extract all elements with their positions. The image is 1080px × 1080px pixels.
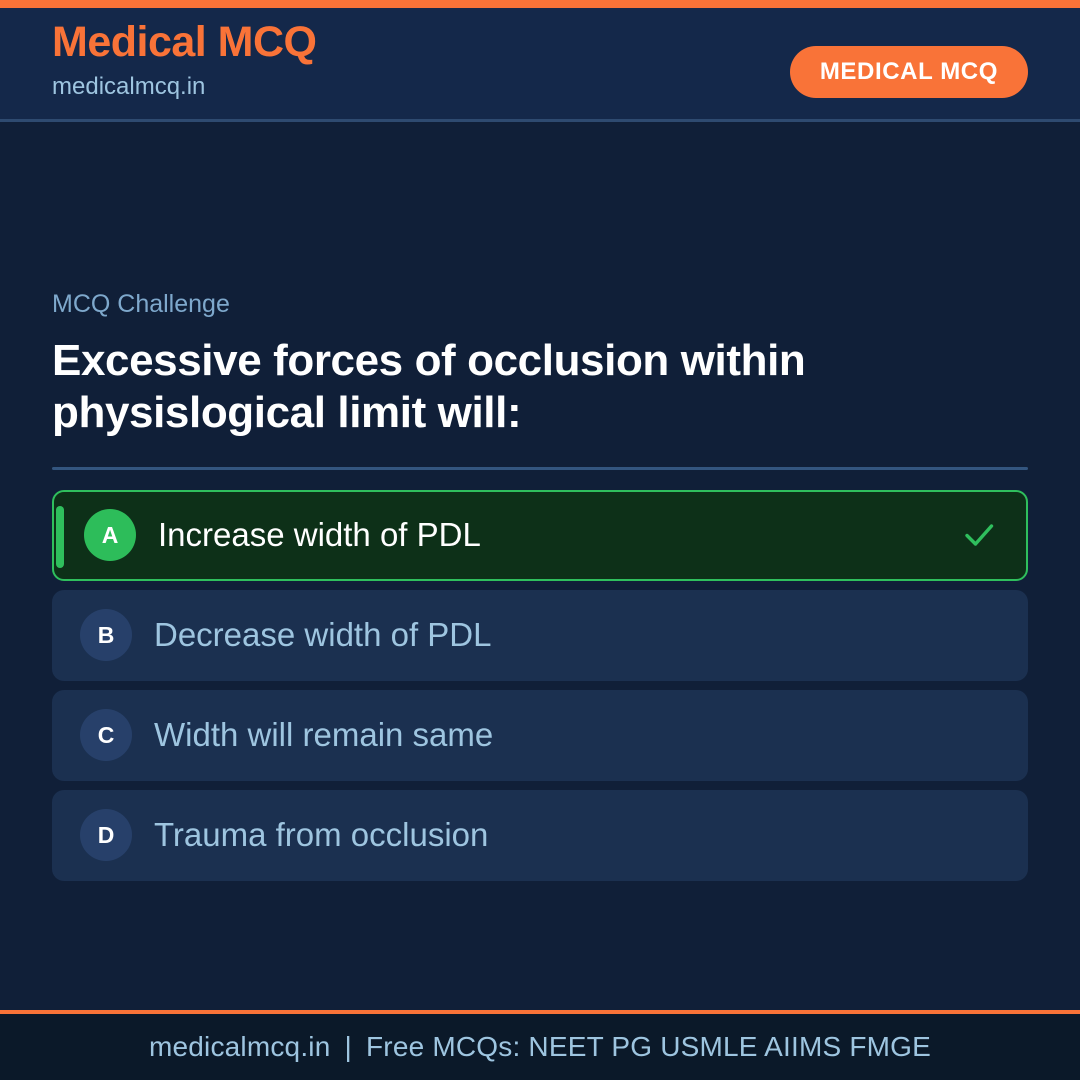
question-text: Excessive forces of occlusion within phy…: [52, 335, 952, 439]
option-d-letter-badge: D: [80, 809, 132, 861]
correct-accent-bar: [56, 506, 64, 568]
divider-rule: [52, 467, 1028, 470]
option-a-letter-badge: A: [84, 509, 136, 561]
option-c-letter-badge: C: [80, 709, 132, 761]
footer-site: medicalmcq.in: [149, 1031, 331, 1062]
eyebrow-label: MCQ Challenge: [52, 292, 1028, 317]
option-a-text: Increase width of PDL: [158, 517, 960, 553]
header-badge: MEDICAL MCQ: [790, 46, 1028, 98]
option-b-text: Decrease width of PDL: [154, 617, 1000, 653]
check-icon: [960, 516, 998, 554]
option-b-letter-badge: B: [80, 609, 132, 661]
option-c[interactable]: C Width will remain same: [52, 690, 1028, 781]
option-a[interactable]: A Increase width of PDL: [52, 490, 1028, 581]
option-d-text: Trauma from occlusion: [154, 817, 1000, 853]
option-b[interactable]: B Decrease width of PDL: [52, 590, 1028, 681]
options-list: A Increase width of PDL B Decrease width…: [52, 490, 1028, 881]
top-accent-bar: [0, 0, 1080, 8]
footer-exams: Free MCQs: NEET PG USMLE AIIMS FMGE: [366, 1031, 931, 1062]
question-block: MCQ Challenge Excessive forces of occlus…: [52, 292, 1028, 890]
option-c-text: Width will remain same: [154, 717, 1000, 753]
brand-block: Medical MCQ medicalmcq.in: [52, 21, 317, 99]
brand-title: Medical MCQ: [52, 21, 317, 64]
footer-separator: |: [331, 1031, 366, 1062]
page-header: Medical MCQ medicalmcq.in MEDICAL MCQ: [0, 8, 1080, 122]
page-footer: medicalmcq.in|Free MCQs: NEET PG USMLE A…: [0, 1010, 1080, 1080]
footer-text: medicalmcq.in|Free MCQs: NEET PG USMLE A…: [149, 1031, 931, 1063]
option-d[interactable]: D Trauma from occlusion: [52, 790, 1028, 881]
brand-subtitle: medicalmcq.in: [52, 75, 317, 99]
main-content: MCQ Challenge Excessive forces of occlus…: [0, 125, 1080, 1010]
